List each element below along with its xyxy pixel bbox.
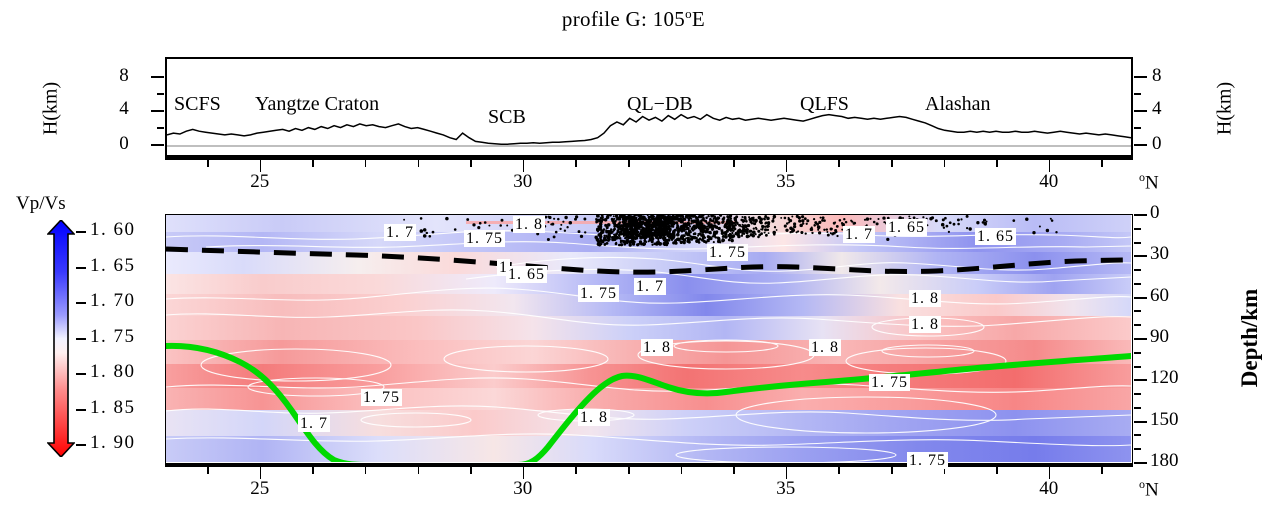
- depth-tick-40: [1134, 269, 1141, 271]
- depth-axis: 0306090120150180: [0, 0, 1267, 515]
- depth-label-60: 60: [1150, 285, 1202, 307]
- depth-tick-80: [1134, 324, 1141, 326]
- depth-tick-160: [1134, 434, 1141, 436]
- depth-tick-0: [1134, 214, 1147, 216]
- depth-label-150: 150: [1150, 409, 1202, 431]
- depth-tick-110: [1134, 366, 1141, 368]
- depth-tick-150: [1134, 421, 1147, 423]
- depth-label-90: 90: [1150, 326, 1202, 348]
- depth-tick-20: [1134, 242, 1141, 244]
- depth-tick-60: [1134, 297, 1147, 299]
- depth-tick-100: [1134, 352, 1141, 354]
- depth-label-180: 180: [1150, 450, 1202, 472]
- depth-label-0: 0: [1150, 202, 1202, 224]
- depth-axis-label: Depth/km: [1237, 273, 1263, 403]
- depth-tick-140: [1134, 407, 1141, 409]
- depth-tick-30: [1134, 255, 1147, 257]
- depth-tick-90: [1134, 338, 1147, 340]
- depth-tick-10: [1134, 228, 1141, 230]
- depth-tick-120: [1134, 379, 1147, 381]
- depth-label-120: 120: [1150, 367, 1202, 389]
- depth-tick-50: [1134, 283, 1141, 285]
- depth-tick-130: [1134, 393, 1141, 395]
- depth-label-30: 30: [1150, 243, 1202, 265]
- depth-tick-70: [1134, 310, 1141, 312]
- depth-tick-180: [1134, 462, 1147, 464]
- depth-tick-170: [1134, 448, 1141, 450]
